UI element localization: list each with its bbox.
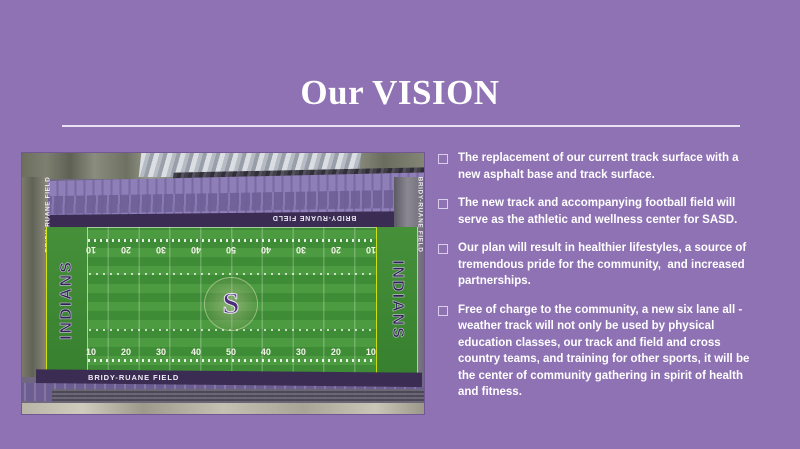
yard-number: 30 [156, 347, 166, 357]
hash-marks-mid-upper [82, 273, 382, 275]
yard-number: 20 [121, 245, 131, 255]
list-item: Free of charge to the community, a new s… [438, 302, 760, 401]
yard-number: 10 [86, 245, 96, 255]
yard-number: 10 [366, 347, 376, 357]
endzone-left: INDIANS [46, 227, 88, 373]
empty-square-icon [438, 306, 448, 316]
yard-number: 40 [191, 347, 201, 357]
hash-marks-bottom [58, 359, 404, 362]
list-item-label: The replacement of our current track sur… [458, 150, 760, 183]
endzone-left-label: INDIANS [58, 260, 76, 340]
yard-number: 30 [296, 245, 306, 255]
roadway-strip [22, 403, 424, 414]
yard-numbers-bottom: 10 20 30 40 50 40 30 20 10 [86, 347, 376, 357]
aerial-field-photo: BRIDY-RUANE FIELD BRIDY-RUANE FIELD BRID… [22, 153, 424, 414]
list-item-label: Free of charge to the community, a new s… [458, 302, 760, 401]
yard-number: 10 [86, 347, 96, 357]
yard-number: 40 [261, 347, 271, 357]
midfield-logo: S [204, 277, 258, 331]
empty-square-icon [438, 154, 448, 164]
field-name-bottom: BRIDY-RUANE FIELD [88, 373, 179, 382]
yard-number: 30 [296, 347, 306, 357]
empty-square-icon [438, 244, 448, 254]
yard-number: 40 [261, 245, 271, 255]
list-item-label: Our plan will result in healthier lifest… [458, 240, 760, 290]
endzone-right: INDIANS [376, 227, 418, 373]
vision-bullet-list: The replacement of our current track sur… [438, 150, 760, 413]
yard-number: 50 [226, 347, 236, 357]
yard-number: 20 [121, 347, 131, 357]
title-divider [62, 125, 740, 127]
yard-number: 20 [331, 245, 341, 255]
list-item: Our plan will result in healthier lifest… [438, 240, 760, 290]
school-letter-logo: S [223, 289, 240, 319]
yard-number: 40 [191, 245, 201, 255]
presentation-slide: Our VISION BRIDY-RUANE FIELD BRIDY-RUANE… [0, 0, 800, 449]
empty-square-icon [438, 199, 448, 209]
endzone-right-label: INDIANS [388, 260, 406, 340]
field-name-top: BRIDY-RUANE FIELD [272, 214, 356, 221]
yard-numbers-top: 10 20 30 40 50 40 30 20 10 [86, 245, 376, 255]
yard-number: 30 [156, 245, 166, 255]
list-item: The new track and accompanying football … [438, 195, 760, 228]
list-item-label: The new track and accompanying football … [458, 195, 760, 228]
hash-marks-top [58, 239, 404, 242]
yard-number: 50 [226, 245, 236, 255]
page-title: Our VISION [0, 73, 800, 113]
yard-number: 20 [331, 347, 341, 357]
list-item: The replacement of our current track sur… [438, 150, 760, 183]
yard-number: 10 [366, 245, 376, 255]
